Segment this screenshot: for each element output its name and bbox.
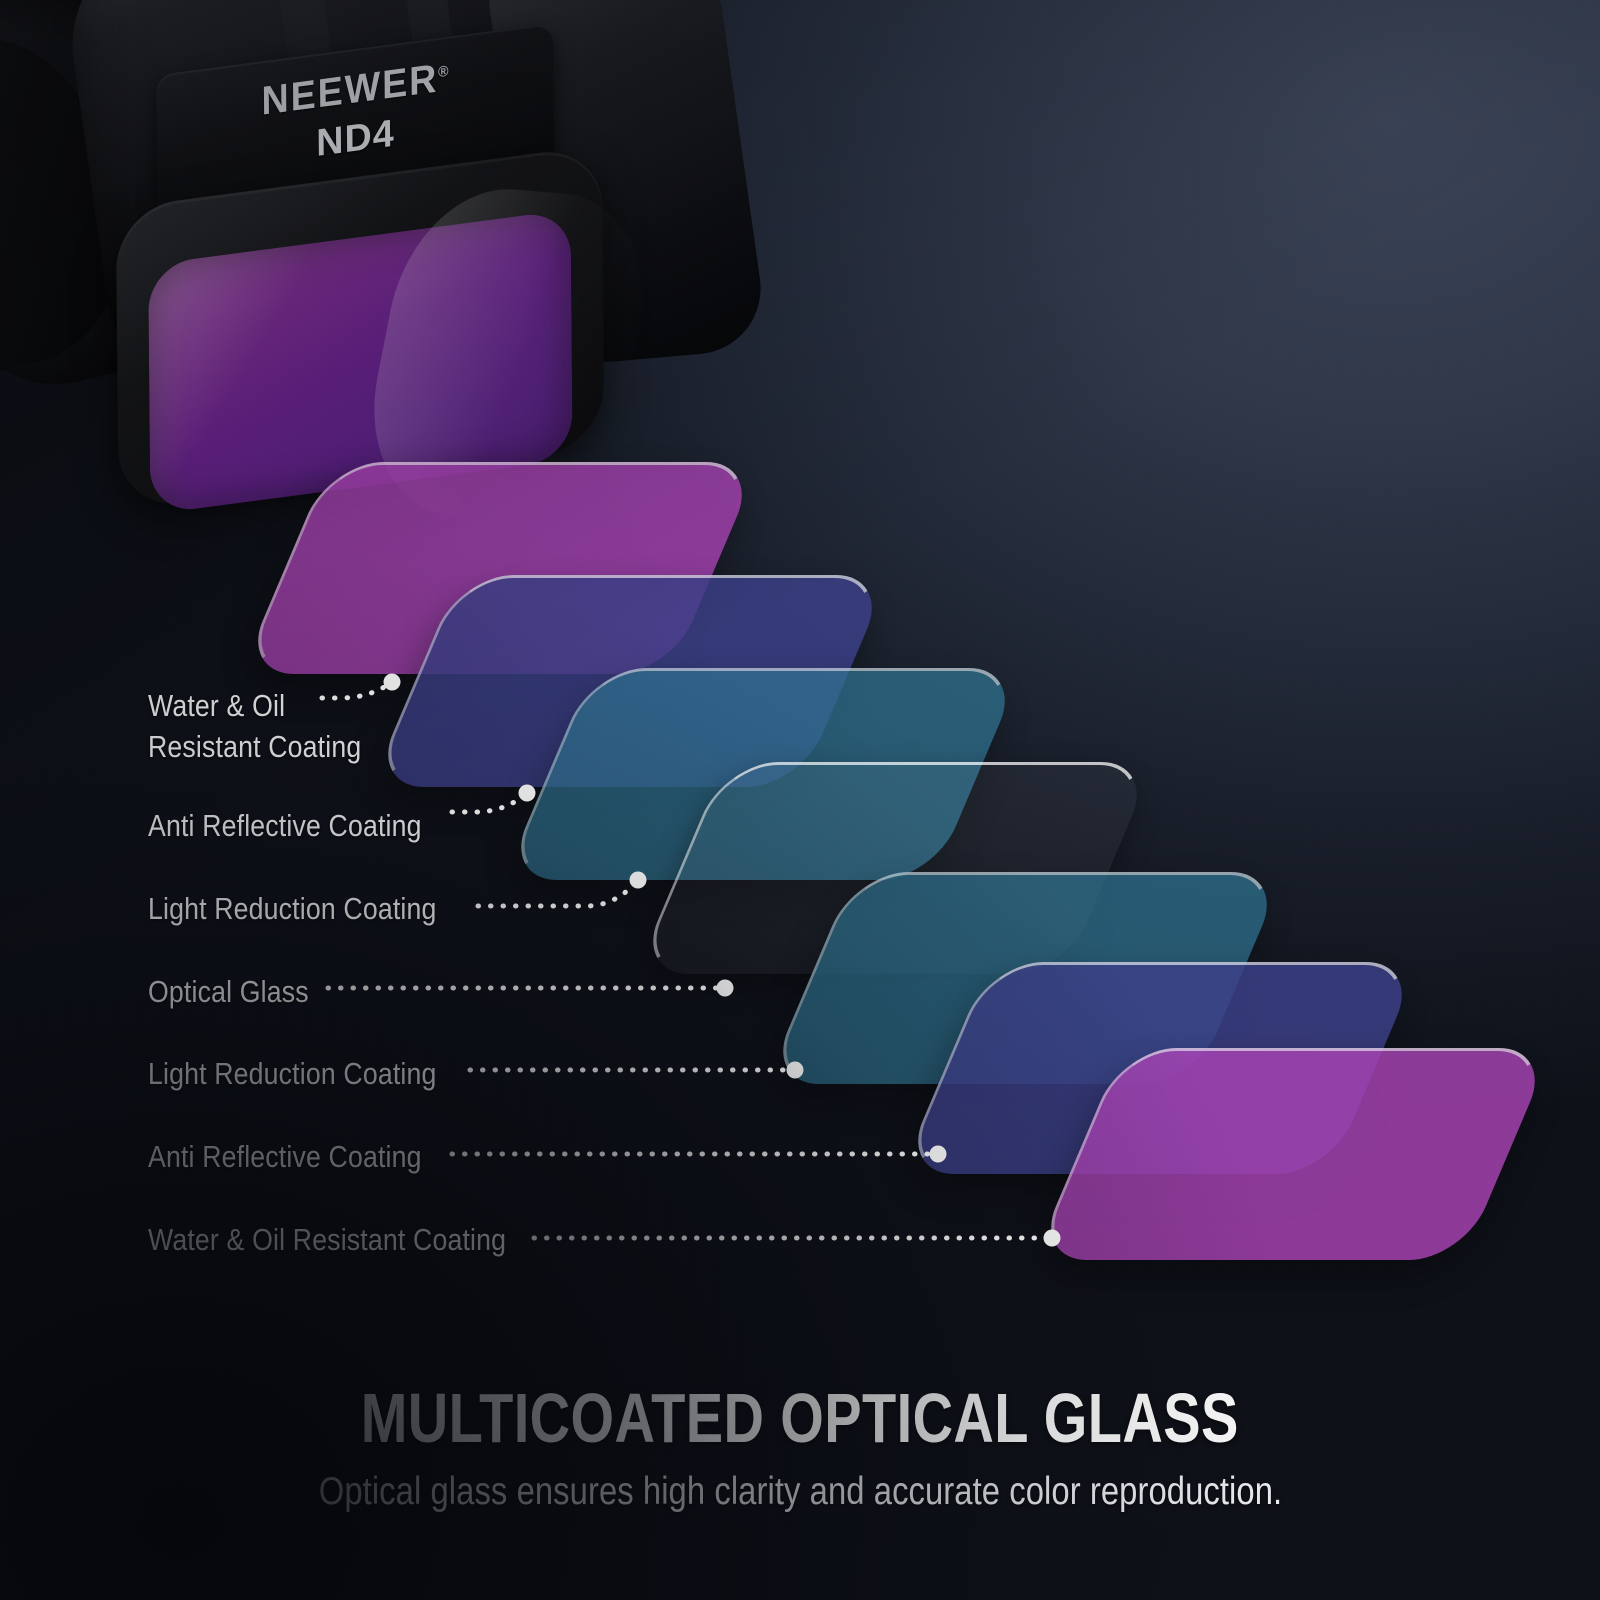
callout-water-oil-top-label: Water & Oil Resistant Coating bbox=[148, 686, 361, 768]
callout-light-reduction-top-label: Light Reduction Coating bbox=[148, 889, 437, 930]
callout-anti-reflective-top-label: Anti Reflective Coating bbox=[148, 806, 422, 847]
page-subtitle: Optical glass ensures high clarity and a… bbox=[318, 1470, 1281, 1514]
callout-labels: Water & Oil Resistant CoatingAnti Reflec… bbox=[0, 0, 1600, 1600]
subhead-row: Optical glass ensures high clarity and a… bbox=[0, 1458, 1600, 1514]
infographic-canvas: NEEWER® ND4 Water & Oil Resistant Coatin… bbox=[0, 0, 1600, 1600]
headline-row: MULTICOATED OPTICAL GLASS bbox=[0, 1378, 1600, 1458]
page-title: MULTICOATED OPTICAL GLASS bbox=[361, 1378, 1239, 1458]
footer-text-block: MULTICOATED OPTICAL GLASS Optical glass … bbox=[0, 1378, 1600, 1514]
callout-light-reduction-bot-label: Light Reduction Coating bbox=[148, 1054, 437, 1095]
callout-anti-reflective-bot-label: Anti Reflective Coating bbox=[148, 1137, 422, 1178]
callout-optical-glass-label: Optical Glass bbox=[148, 972, 309, 1013]
callout-water-oil-bot-label: Water & Oil Resistant Coating bbox=[148, 1220, 506, 1261]
